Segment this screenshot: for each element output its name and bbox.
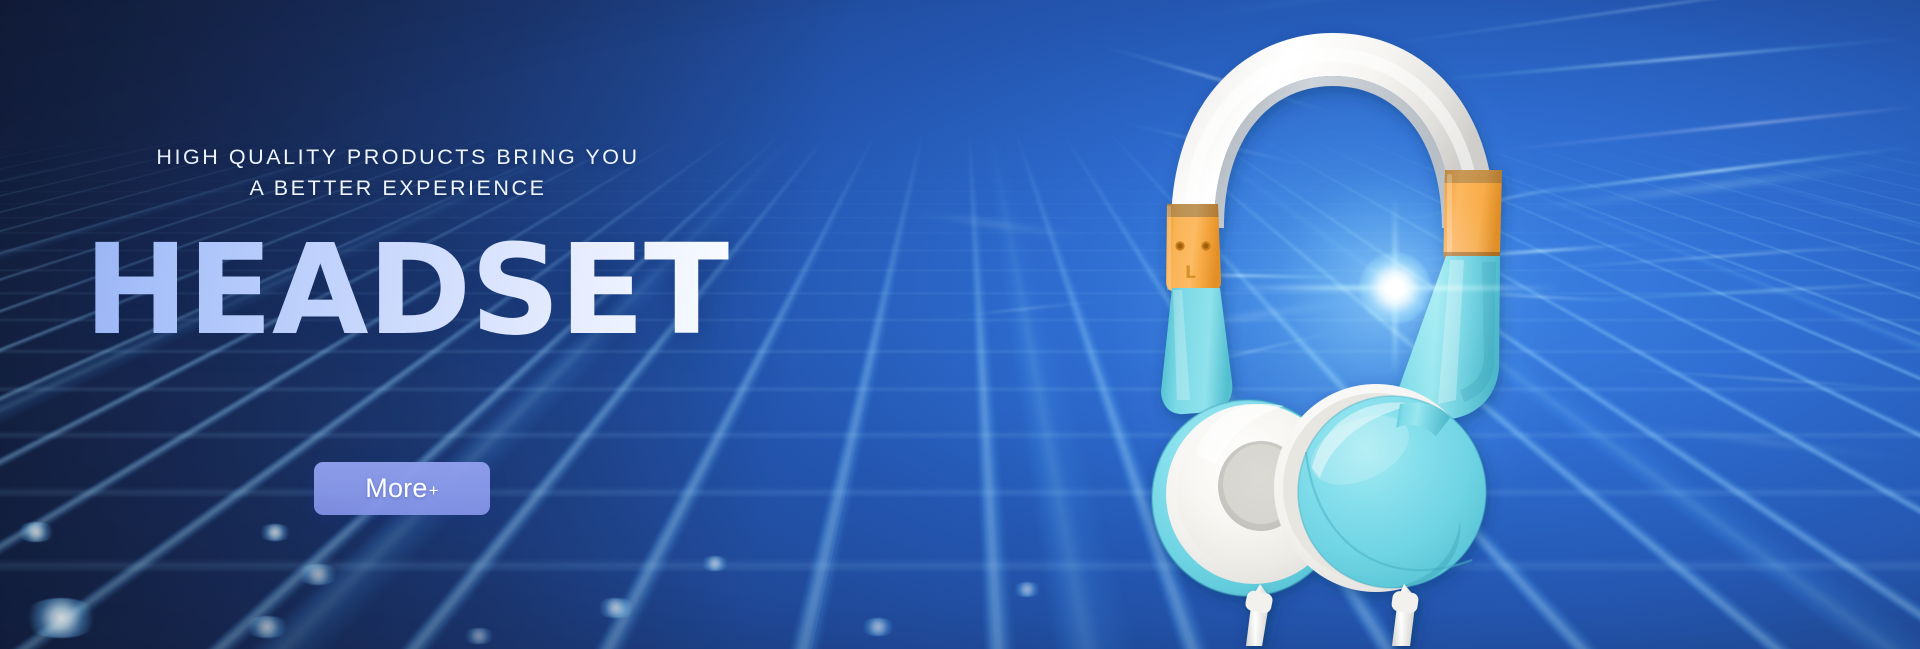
more-button-label: More: [365, 473, 427, 504]
banner-tagline: HIGH QUALITY PRODUCTS BRING YOU A BETTER…: [0, 142, 796, 204]
light-streak-icon: [951, 300, 1100, 318]
glow-spark-icon: [700, 556, 730, 571]
glow-spark-icon: [462, 628, 496, 644]
glow-spark-icon: [22, 598, 100, 638]
headset-cable-right-strain: [1391, 590, 1420, 613]
light-streak-icon: [902, 210, 1091, 239]
glow-spark-icon: [1012, 582, 1042, 597]
more-button[interactable]: More+: [314, 462, 490, 515]
headset-left-orange-clip: L: [1166, 204, 1221, 292]
light-streak-icon: [1600, 420, 1918, 462]
light-streak-icon: [1490, 105, 1918, 153]
light-streak-icon: [1500, 145, 1917, 199]
headset-product-image: L: [1120, 0, 1540, 649]
glow-spark-icon: [860, 618, 896, 636]
light-streak-icon: [1620, 368, 1919, 391]
headset-promo-banner: L: [0, 0, 1920, 649]
headset-left-arm: [1161, 288, 1232, 414]
glow-spark-icon: [16, 522, 56, 542]
glow-spark-icon: [258, 524, 292, 541]
cta-container: More+: [0, 462, 804, 515]
banner-headline: HEADSET: [0, 225, 812, 356]
glow-spark-icon: [296, 564, 340, 585]
plus-icon: +: [429, 481, 439, 501]
glow-spark-icon: [244, 616, 290, 638]
glow-spark-icon: [596, 598, 636, 618]
headset-left-marking: L: [1185, 263, 1196, 283]
headset-right-orange-clip: [1443, 170, 1502, 263]
